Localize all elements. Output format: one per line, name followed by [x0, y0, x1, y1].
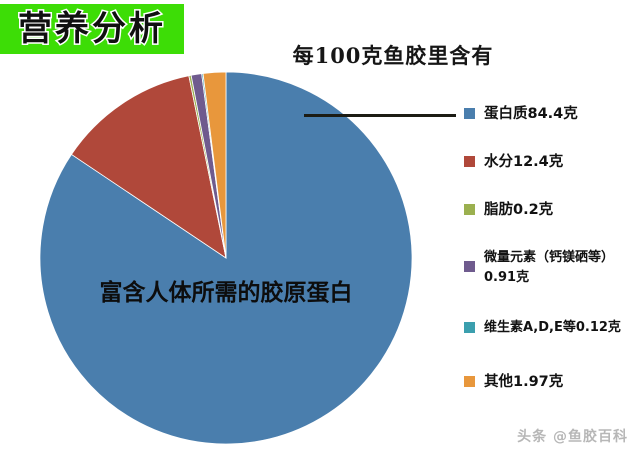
- legend-label-water: 水分12.4克: [484, 152, 632, 172]
- watermark: 头条 @鱼胶百科: [517, 426, 628, 446]
- legend-swatch-water: [464, 156, 475, 167]
- chart-title: 每100克鱼胶里含有: [258, 40, 528, 70]
- nutrition-analysis-banner: 营养分析: [0, 4, 184, 54]
- legend-swatch-protein: [464, 108, 475, 119]
- pie-slice-group: [40, 72, 412, 444]
- legend-item-other[interactable]: 其他1.97克: [464, 372, 632, 392]
- legend-swatch-other: [464, 376, 475, 387]
- legend-label-fat: 脂肪0.2克: [484, 200, 632, 220]
- banner-title: 营养分析: [18, 12, 166, 46]
- legend-swatch-vitamins: [464, 322, 475, 333]
- legend-leader-line: [304, 114, 456, 117]
- infographic-root: 营养分析 每100克鱼胶里含有 富含人体所需的胶原蛋白 蛋白质84.4克 水分1…: [0, 0, 640, 455]
- legend-swatch-trace-elements: [464, 261, 475, 272]
- legend-label-other: 其他1.97克: [484, 372, 632, 392]
- legend-label-protein: 蛋白质84.4克: [484, 104, 632, 124]
- legend-label-vitamins: 维生素A,D,E等0.12克: [484, 318, 632, 338]
- legend-label-trace-elements: 微量元素（钙镁硒等）0.91克: [484, 248, 632, 288]
- legend-item-protein[interactable]: 蛋白质84.4克: [464, 104, 632, 124]
- legend-item-vitamins[interactable]: 维生素A,D,E等0.12克: [464, 318, 632, 338]
- pie-chart: 富含人体所需的胶原蛋白: [38, 70, 414, 446]
- legend-item-trace-elements[interactable]: 微量元素（钙镁硒等）0.91克: [464, 248, 632, 288]
- pie-chart-svg: [38, 70, 414, 446]
- legend-item-water[interactable]: 水分12.4克: [464, 152, 632, 172]
- legend-swatch-fat: [464, 204, 475, 215]
- legend-item-fat[interactable]: 脂肪0.2克: [464, 200, 632, 220]
